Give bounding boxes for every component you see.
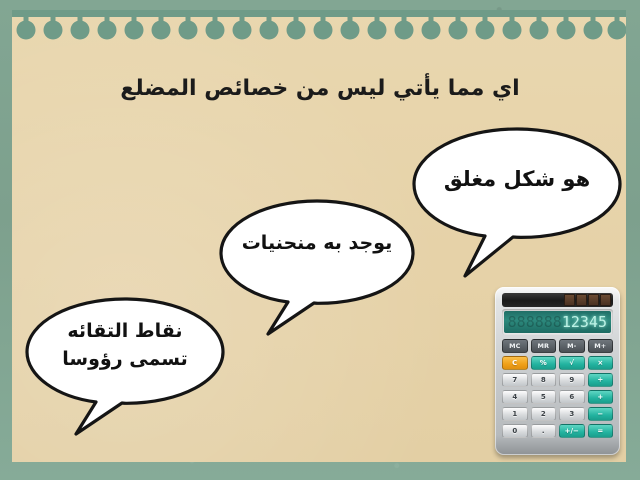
calculator-key-decimal[interactable]: . — [531, 424, 557, 438]
calculator-screen: 888888 12345 — [502, 309, 613, 335]
calculator-key-1[interactable]: 1 — [502, 407, 528, 421]
calculator-display-ghost: 888888 — [508, 313, 562, 331]
calculator-key-4[interactable]: 4 — [502, 390, 528, 404]
slide-canvas: اي مما يأتي ليس من خصائص المضلع هو شكل م… — [0, 0, 640, 480]
calculator-key-0[interactable]: 0 — [502, 424, 528, 438]
calculator-key-2[interactable]: 2 — [531, 407, 557, 421]
solar-cells — [564, 294, 611, 306]
calculator-keypad: MC MR M- M+ C % √ × 7 8 9 ÷ 4 5 6 + 1 2 … — [502, 339, 613, 438]
calculator-key-sqrt[interactable]: √ — [559, 356, 585, 370]
page-title: اي مما يأتي ليس من خصائص المضلع — [60, 74, 580, 104]
calculator-key-sign[interactable]: +/− — [559, 424, 585, 438]
calculator-lcd: 888888 12345 — [504, 311, 611, 333]
calculator-key-9[interactable]: 9 — [559, 373, 585, 387]
calculator-key-plus[interactable]: + — [588, 390, 614, 404]
calculator-key-equals[interactable]: = — [588, 424, 614, 438]
calculator-key-percent[interactable]: % — [531, 356, 557, 370]
calculator-key-3[interactable]: 3 — [559, 407, 585, 421]
calculator-key-m-minus[interactable]: M- — [559, 339, 585, 353]
calculator-key-mc[interactable]: MC — [502, 339, 528, 353]
solar-cell — [564, 294, 575, 306]
calculator-key-mr[interactable]: MR — [531, 339, 557, 353]
calculator-key-m-plus[interactable]: M+ — [588, 339, 614, 353]
calculator-key-clear[interactable]: C — [502, 356, 528, 370]
calculator-key-8[interactable]: 8 — [531, 373, 557, 387]
calculator-key-multiply[interactable]: × — [588, 356, 614, 370]
answer-bubble-2[interactable]: يوجد به منحنيات — [216, 198, 418, 338]
calculator-solar-panel — [502, 293, 613, 307]
calculator-key-minus[interactable]: − — [588, 407, 614, 421]
solar-cell — [588, 294, 599, 306]
calculator-illustration: 888888 12345 MC MR M- M+ C % √ × 7 8 9 ÷… — [495, 287, 620, 455]
calculator-key-7[interactable]: 7 — [502, 373, 528, 387]
calculator-key-divide[interactable]: ÷ — [588, 373, 614, 387]
calculator-key-5[interactable]: 5 — [531, 390, 557, 404]
answer-bubble-1[interactable]: هو شكل مغلق — [409, 126, 625, 280]
solar-cell — [600, 294, 611, 306]
calculator-key-6[interactable]: 6 — [559, 390, 585, 404]
calculator-display-value: 12345 — [562, 313, 607, 331]
answer-bubble-3[interactable]: نقاط التقائه تسمى رؤوسا — [22, 296, 228, 438]
solar-cell — [576, 294, 587, 306]
